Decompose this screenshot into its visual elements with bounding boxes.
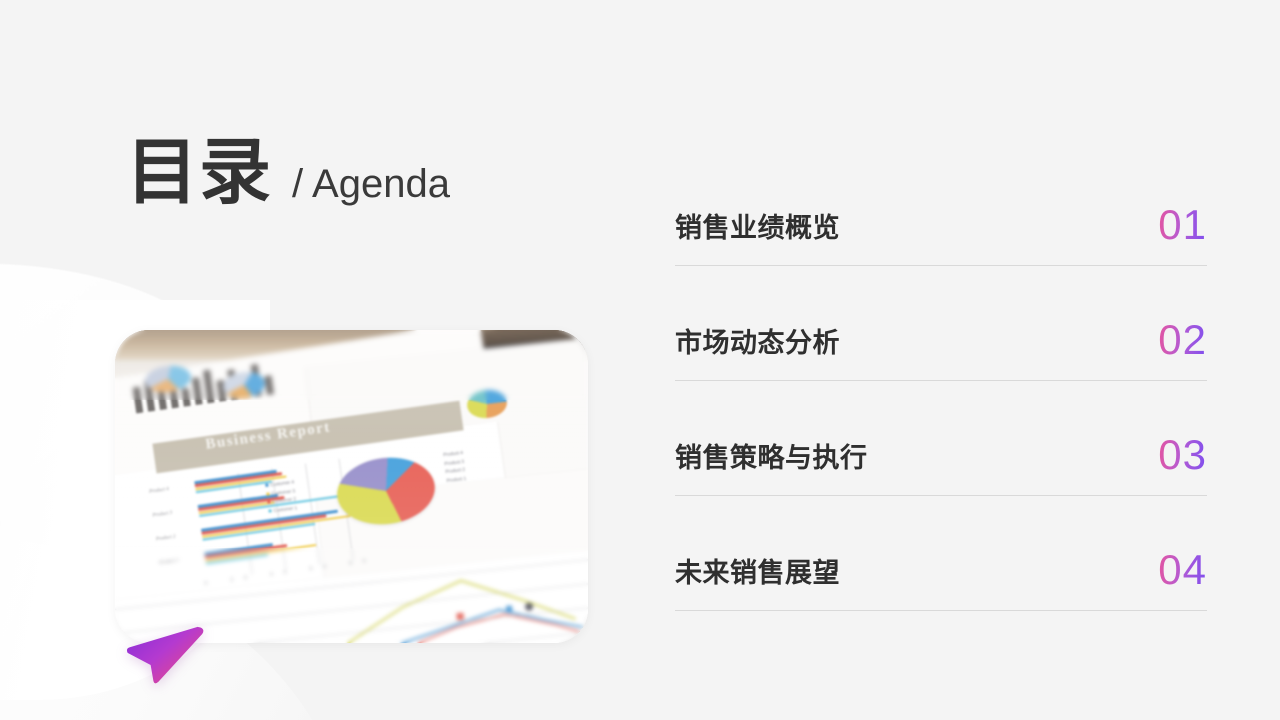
cursor-arrow-icon: [120, 612, 204, 688]
agenda-item-label: 市场动态分析: [675, 321, 840, 360]
agenda-divider: [675, 610, 1207, 611]
page-title: 目录 / Agenda: [126, 136, 450, 208]
agenda-item-3[interactable]: 销售策略与执行 03: [675, 415, 1207, 530]
agenda-item-number: 04: [1158, 549, 1207, 591]
photo-chart-legend: Product 4Product 3Product 2Product 1: [443, 449, 467, 486]
photo-chart-legend: Customer 4 Customer 3 Customer 2 Custome…: [265, 478, 298, 516]
agenda-item-number: 03: [1158, 434, 1207, 476]
agenda-divider: [675, 380, 1207, 381]
page-title-en: / Agenda: [292, 164, 450, 204]
agenda-item-label: 未来销售展望: [675, 551, 840, 590]
agenda-item-1[interactable]: 销售业绩概览 01: [675, 185, 1207, 300]
agenda-item-label: 销售策略与执行: [675, 436, 868, 475]
agenda-list: 销售业绩概览 01 市场动态分析 02 销售策略与执行 03 未来销售展望 04: [675, 185, 1207, 645]
agenda-divider: [675, 495, 1207, 496]
agenda-item-number: 01: [1158, 204, 1207, 246]
agenda-item-number: 02: [1158, 319, 1207, 361]
cover-photo: Business Report Product 4 Product 3 Prod…: [115, 330, 588, 643]
page-title-cn: 目录: [126, 136, 272, 208]
agenda-item-2[interactable]: 市场动态分析 02: [675, 300, 1207, 415]
slide-canvas: 目录 / Agenda Bus: [0, 0, 1280, 720]
photo-scene: Business Report Product 4 Product 3 Prod…: [115, 330, 588, 643]
agenda-item-4[interactable]: 未来销售展望 04: [675, 530, 1207, 645]
agenda-item-label: 销售业绩概览: [675, 206, 840, 245]
agenda-divider: [675, 265, 1207, 266]
